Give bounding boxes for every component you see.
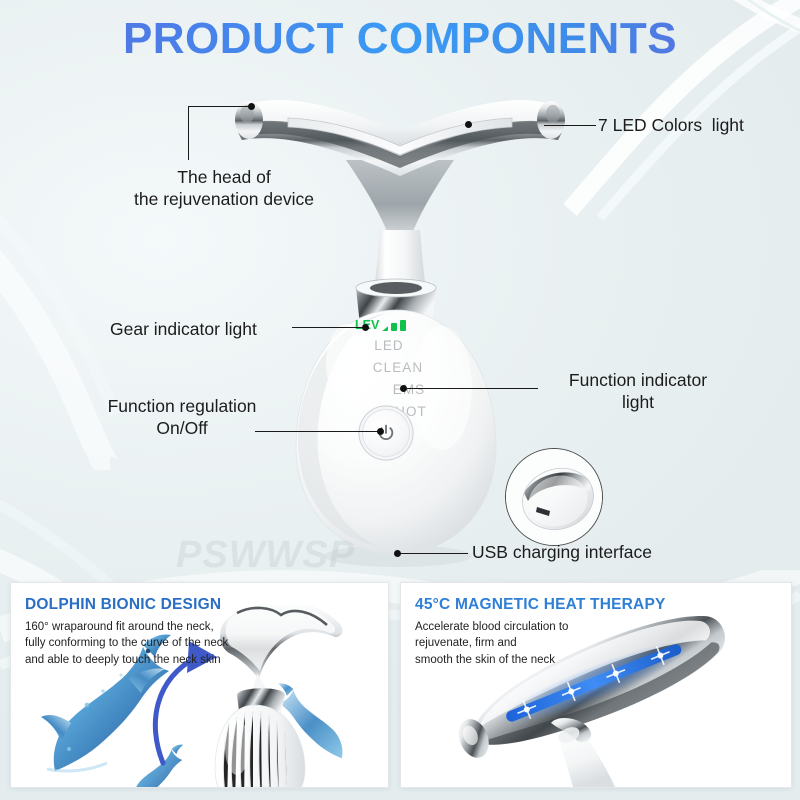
mode-indicator-clean: CLEAN	[364, 360, 432, 375]
leader-dot-function-regulation	[377, 428, 384, 435]
mode-indicator-ems: EMS	[375, 382, 443, 397]
product-components-infographic: PRODUCT COMPONENTS	[0, 0, 800, 800]
leader-dot-gear	[362, 324, 369, 331]
callout-usb-charging-interface: USB charging interface	[472, 541, 652, 563]
leader-line-function-indicator	[404, 388, 538, 389]
leader-line-gear	[292, 327, 365, 328]
panel-title-heat: 45°C MAGNETIC HEAT THERAPY	[415, 596, 666, 614]
leader-dot-usb	[394, 550, 401, 557]
panel-dolphin-bionic-design: DOLPHIN BIONIC DESIGN 160° wraparound fi…	[10, 582, 389, 788]
watermark: PSWWSP	[176, 534, 355, 577]
panel-title-dolphin: DOLPHIN BIONIC DESIGN	[25, 596, 221, 614]
device-indicator-stack: LEV LED CLEAN EMS HOT	[355, 318, 475, 419]
usb-charging-interface-inset	[505, 448, 603, 546]
panel-magnetic-heat-therapy: 45°C MAGNETIC HEAT THERAPY Accelerate bl…	[400, 582, 792, 788]
panel-body-heat: Accelerate blood circulation to rejuvena…	[415, 619, 568, 668]
leader-line-usb	[400, 553, 468, 554]
leader-dot-head	[248, 103, 255, 110]
callout-function-indicator-light: Function indicator light	[543, 369, 733, 414]
leader-line-led-colors	[544, 125, 596, 126]
callout-head-of-device: The head of the rejuvenation device	[118, 166, 330, 211]
power-button[interactable]	[363, 410, 409, 456]
callout-function-regulation: Function regulation On/Off	[82, 395, 282, 440]
leader-dot-led-colors	[465, 121, 472, 128]
leader-dot-function-indicator	[400, 385, 407, 392]
callout-gear-indicator-light: Gear indicator light	[110, 318, 257, 340]
panel-body-dolphin: 160° wraparound fit around the neck, ful…	[25, 619, 228, 668]
gear-bar-1	[382, 326, 388, 331]
callout-7-led-colors: 7 LED Colors light	[598, 114, 744, 136]
usb-port-closeup	[506, 449, 602, 545]
gear-bar-2	[391, 323, 397, 331]
page-title: PRODUCT COMPONENTS	[0, 14, 800, 64]
gear-bar-3	[400, 320, 406, 331]
gear-indicator-light: LEV	[355, 318, 475, 331]
leader-line-head-horizontal	[188, 106, 250, 107]
mode-indicator-led: LED	[355, 338, 423, 353]
leader-line-head-vertical	[188, 106, 189, 160]
